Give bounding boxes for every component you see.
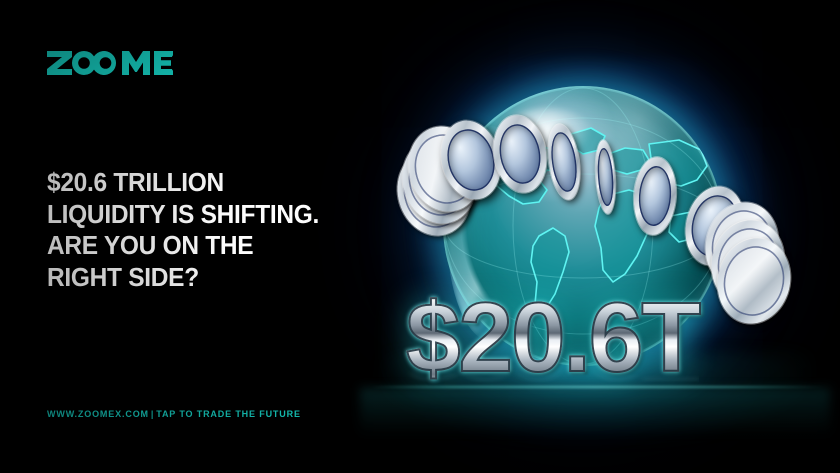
headline-line-2: LIQUIDITY IS SHIFTING. <box>47 200 393 232</box>
hero-amount: $20.6T <box>406 288 699 386</box>
zoomex-logo[interactable] <box>47 50 173 76</box>
website-link[interactable]: WWW.ZOOMEX.COM <box>47 409 149 419</box>
page-title: $20.6 TRILLION LIQUIDITY IS SHIFTING. AR… <box>47 168 407 294</box>
footer-bar: WWW.ZOOMEX.COM|TAP TO TRADE THE FUTURE <box>47 409 301 419</box>
headline-line-3: ARE YOU ON THE <box>47 231 393 263</box>
floor-sheen <box>360 388 830 436</box>
zoomex-logo-icon <box>47 50 173 76</box>
headline-line-1: $20.6 TRILLION <box>47 168 393 200</box>
footer-separator: | <box>149 409 156 419</box>
footer-tagline: TAP TO TRADE THE FUTURE <box>156 409 301 419</box>
headline-line-4: RIGHT SIDE? <box>47 263 393 295</box>
promo-banner: $20.6T $20.6T $20.6T $20.6 TRILLION LIQU… <box>0 0 840 473</box>
